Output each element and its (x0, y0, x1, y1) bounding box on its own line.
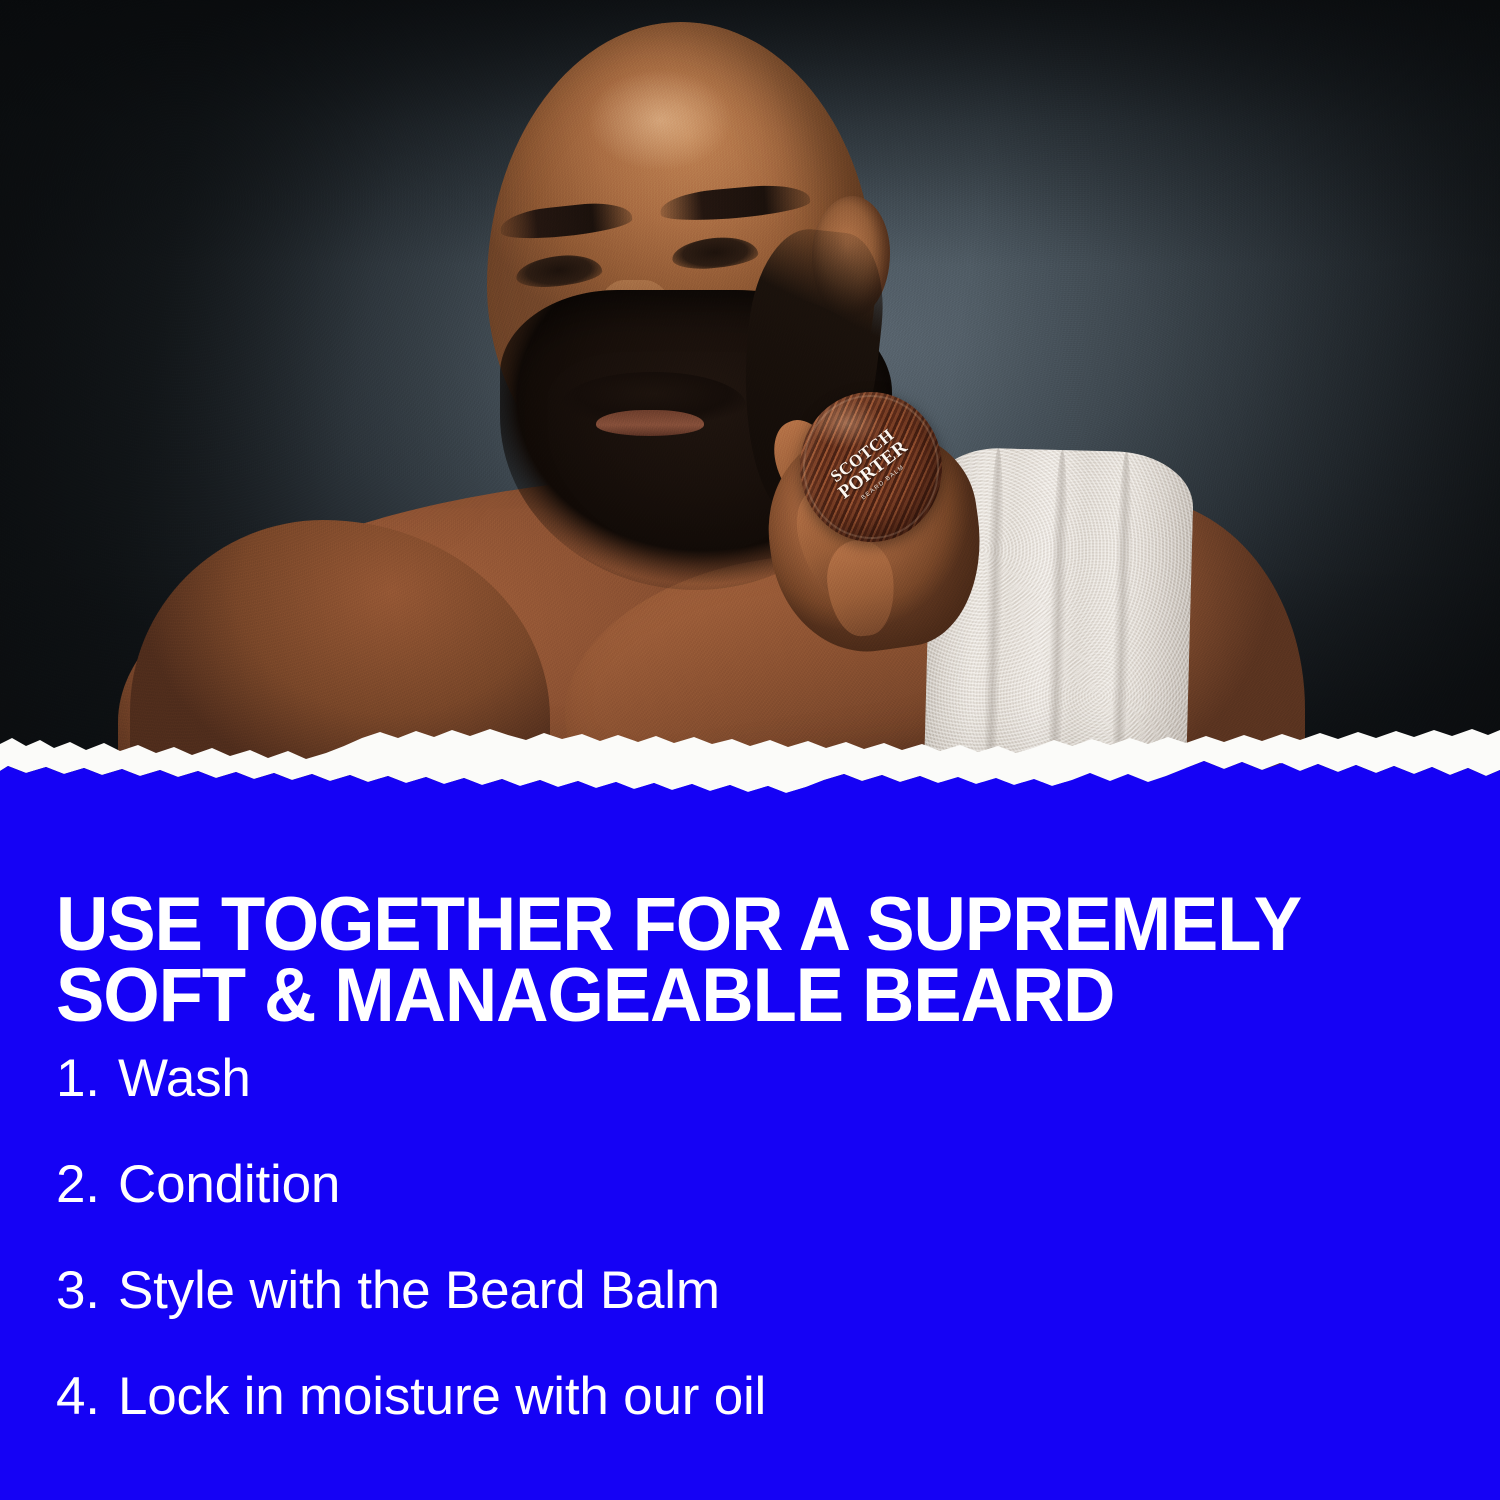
panel-headline: USE TOGETHER FOR A SUPREMELY SOFT & MANA… (56, 889, 1403, 1031)
model-lower-lip (596, 410, 704, 436)
torn-edge-shape (0, 724, 1500, 820)
step-label: Lock in moisture with our oil (118, 1370, 766, 1423)
routine-steps-list: 1. Wash 2. Condition 3. Style with the B… (56, 1052, 1256, 1476)
step-number: 2. (56, 1158, 118, 1211)
model-subject (0, 0, 1500, 782)
list-item: 4. Lock in moisture with our oil (56, 1370, 1256, 1476)
step-label: Style with the Beard Balm (118, 1264, 720, 1317)
list-item: 2. Condition (56, 1158, 1256, 1264)
headline-line-2: SOFT & MANAGEABLE BEARD (56, 960, 1403, 1031)
product-ad-card: SCOTCH PORTER BEARD BALM USE TOGETHER FO… (0, 0, 1500, 1500)
hero-photo: SCOTCH PORTER BEARD BALM (0, 0, 1500, 782)
step-label: Wash (118, 1052, 251, 1105)
model-head-highlight (560, 50, 760, 190)
list-item: 1. Wash (56, 1052, 1256, 1158)
step-number: 3. (56, 1264, 118, 1317)
step-label: Condition (118, 1158, 340, 1211)
step-number: 1. (56, 1052, 118, 1105)
list-item: 3. Style with the Beard Balm (56, 1264, 1256, 1370)
headline-line-1: USE TOGETHER FOR A SUPREMELY (56, 889, 1403, 960)
step-number: 4. (56, 1370, 118, 1423)
torn-paper-edge (0, 724, 1500, 820)
